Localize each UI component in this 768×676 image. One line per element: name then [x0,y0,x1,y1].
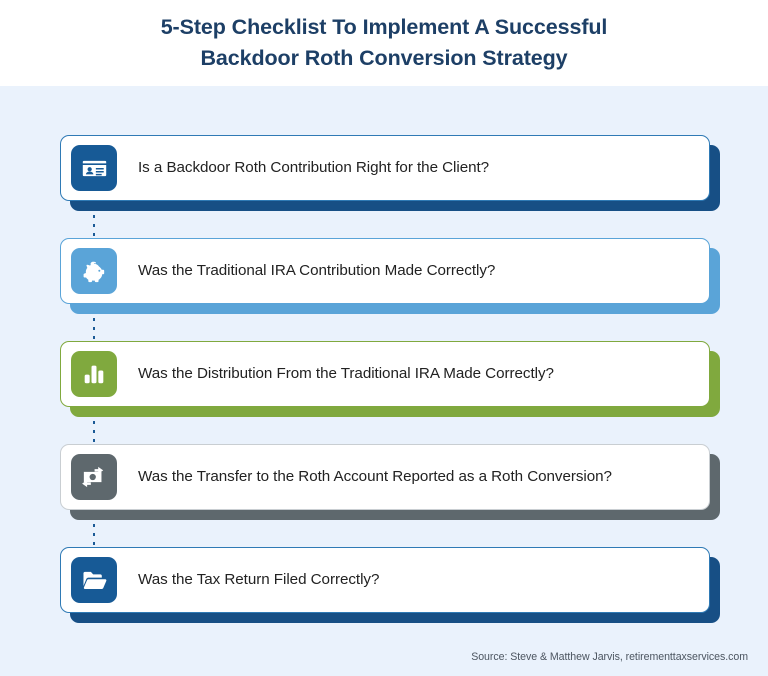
step-label: Was the Transfer to the Roth Account Rep… [138,467,612,487]
checklist-body: Is a Backdoor Roth Contribution Right fo… [0,86,768,676]
step-label: Was the Distribution From the Traditiona… [138,364,554,384]
infographic-page: 5-Step Checklist To Implement A Successf… [0,0,768,676]
page-title-line-1: 5-Step Checklist To Implement A Successf… [161,12,608,43]
money-transfer-icon [71,454,117,500]
source-attribution: Source: Steve & Matthew Jarvis, retireme… [471,651,748,663]
id-card-icon [71,145,117,191]
step-card-2[interactable]: Was the Traditional IRA Contribution Mad… [60,238,710,304]
checklist-step: Was the Transfer to the Roth Account Rep… [60,444,720,547]
bar-chart-icon [71,351,117,397]
checklist-step: Was the Distribution From the Traditiona… [60,341,720,444]
step-card-1[interactable]: Is a Backdoor Roth Contribution Right fo… [60,135,710,201]
checklist-step: Is a Backdoor Roth Contribution Right fo… [60,135,720,238]
piggy-bank-icon [71,248,117,294]
page-title-line-2: Backdoor Roth Conversion Strategy [161,43,608,74]
checklist-step: Was the Traditional IRA Contribution Mad… [60,238,720,341]
step-card-3[interactable]: Was the Distribution From the Traditiona… [60,341,710,407]
page-title: 5-Step Checklist To Implement A Successf… [81,12,688,73]
step-label: Is a Backdoor Roth Contribution Right fo… [138,158,489,178]
checklist-step: Was the Tax Return Filed Correctly? [60,547,720,650]
step-label: Was the Tax Return Filed Correctly? [138,570,379,590]
header-band: 5-Step Checklist To Implement A Successf… [0,0,768,86]
step-card-4[interactable]: Was the Transfer to the Roth Account Rep… [60,444,710,510]
step-card-5[interactable]: Was the Tax Return Filed Correctly? [60,547,710,613]
checklist-steps: Is a Backdoor Roth Contribution Right fo… [60,135,720,650]
open-folder-icon [71,557,117,603]
step-label: Was the Traditional IRA Contribution Mad… [138,261,495,281]
